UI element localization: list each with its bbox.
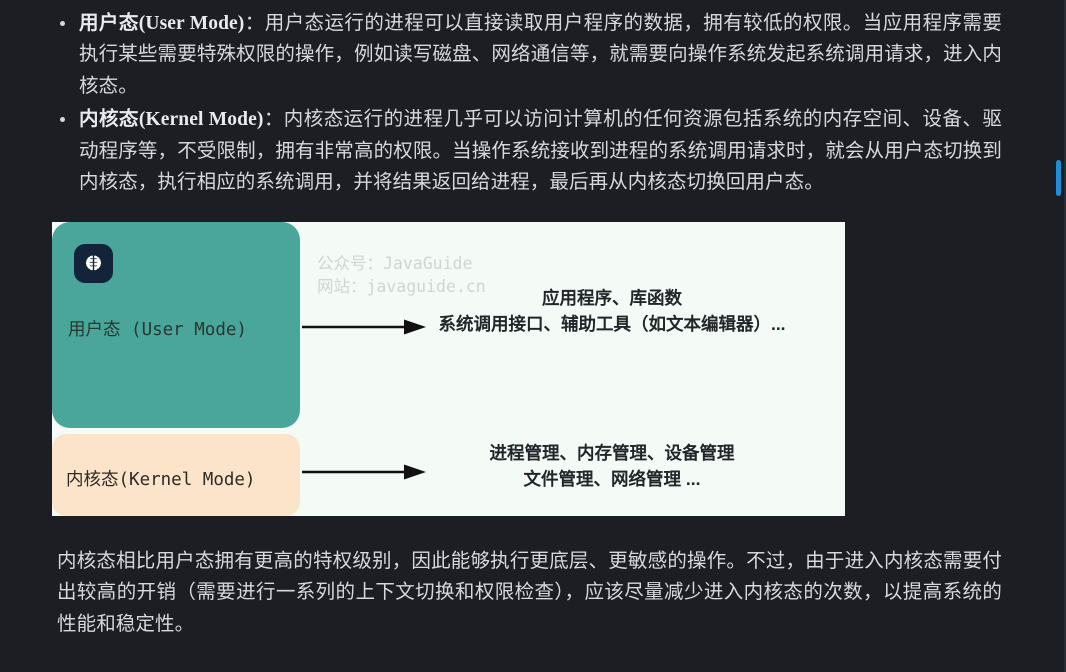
watermark-line-1: 公众号：JavaGuide bbox=[317, 252, 486, 275]
bullet-dot-icon bbox=[60, 117, 65, 122]
user-mode-label: 用户态 (User Mode) bbox=[68, 316, 247, 341]
list-item: 内核态(Kernel Mode)：内核态运行的进程几乎可以访问计算机的任何资源包… bbox=[57, 104, 1002, 198]
user-mode-side-text: 应用程序、库函数 系统调用接口、辅助工具（如文本编辑器）... bbox=[392, 285, 832, 337]
brain-icon bbox=[83, 253, 104, 274]
user-side-line-2: 系统调用接口、辅助工具（如文本编辑器）... bbox=[392, 311, 832, 337]
scrollbar-thumb[interactable] bbox=[1056, 160, 1061, 196]
bullet-term: 用户态(User Mode) bbox=[79, 13, 244, 34]
mode-bullet-list: 用户态(User Mode)：用户态运行的进程可以直接读取用户程序的数据，拥有较… bbox=[57, 8, 1002, 200]
bullet-separator: ： bbox=[263, 109, 283, 130]
bullet-term: 内核态(Kernel Mode) bbox=[79, 109, 263, 130]
scrollbar-track[interactable] bbox=[1054, 0, 1064, 672]
user-kernel-mode-diagram: 用户态 (User Mode) 内核态(Kernel Mode) 公众号：Jav… bbox=[52, 222, 845, 516]
closing-paragraph: 内核态相比用户态拥有更高的特权级别，因此能够执行更底层、更敏感的操作。不过，由于… bbox=[57, 546, 1002, 640]
bullet-separator: ： bbox=[244, 13, 264, 34]
list-item: 用户态(User Mode)：用户态运行的进程可以直接读取用户程序的数据，拥有较… bbox=[57, 8, 1002, 102]
kernel-side-line-1: 进程管理、内存管理、设备管理 bbox=[392, 440, 832, 466]
user-side-line-1: 应用程序、库函数 bbox=[392, 285, 832, 311]
kernel-side-line-2: 文件管理、网络管理 ... bbox=[392, 466, 832, 492]
document-page: 用户态(User Mode)：用户态运行的进程可以直接读取用户程序的数据，拥有较… bbox=[0, 0, 1066, 672]
bullet-dot-icon bbox=[60, 21, 65, 26]
kernel-mode-label: 内核态(Kernel Mode) bbox=[66, 466, 255, 491]
kernel-mode-side-text: 进程管理、内存管理、设备管理 文件管理、网络管理 ... bbox=[392, 440, 832, 492]
brain-badge bbox=[74, 244, 113, 283]
